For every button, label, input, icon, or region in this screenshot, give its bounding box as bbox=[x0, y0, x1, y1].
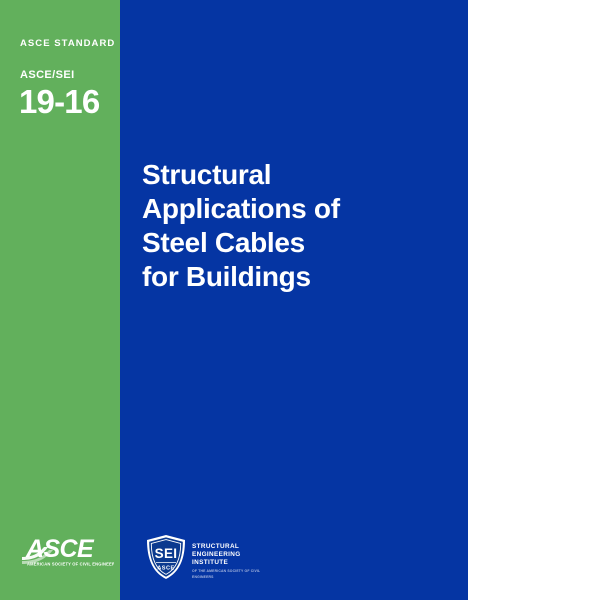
sei-wordmark-line-1: STRUCTURAL bbox=[192, 543, 272, 551]
title-line-1: Structural bbox=[142, 158, 452, 192]
asce-logo: ASCE AMERICAN SOCIETY OF CIVIL ENGINEERS bbox=[22, 534, 114, 568]
sei-wordmark-line-3: INSTITUTE bbox=[192, 559, 272, 567]
title-line-4: for Buildings bbox=[142, 260, 452, 294]
title-line-2: Applications of bbox=[142, 192, 452, 226]
sei-wordmark-subtitle: OF THE AMERICAN SOCIETY OF CIVIL ENGINEE… bbox=[192, 568, 272, 580]
asce-standard-label: ASCE STANDARD bbox=[20, 38, 116, 50]
book-cover: ASCE STANDARD ASCE/SEI 19-16 ASCE AMERIC… bbox=[0, 0, 468, 600]
cover-title: Structural Applications of Steel Cables … bbox=[142, 158, 452, 294]
title-line-3: Steel Cables bbox=[142, 226, 452, 260]
standard-number: 19-16 bbox=[19, 82, 125, 122]
asce-sei-designation-label: ASCE/SEI bbox=[20, 68, 116, 82]
sei-shield-icon: SEI ASCE bbox=[145, 534, 187, 580]
sei-logo-lockup: SEI ASCE STRUCTURAL ENGINEERING INSTITUT… bbox=[145, 534, 275, 580]
sei-wordmark-line-2: ENGINEERING bbox=[192, 551, 272, 559]
sei-wordmark: STRUCTURAL ENGINEERING INSTITUTE OF THE … bbox=[192, 543, 272, 580]
svg-text:AMERICAN SOCIETY OF CIVIL ENGI: AMERICAN SOCIETY OF CIVIL ENGINEERS bbox=[27, 562, 114, 567]
svg-text:ASCE: ASCE bbox=[25, 535, 95, 563]
svg-text:ASCE: ASCE bbox=[157, 566, 175, 572]
svg-text:SEI: SEI bbox=[155, 546, 178, 561]
asce-logo-mark: ASCE AMERICAN SOCIETY OF CIVIL ENGINEERS bbox=[22, 534, 114, 568]
